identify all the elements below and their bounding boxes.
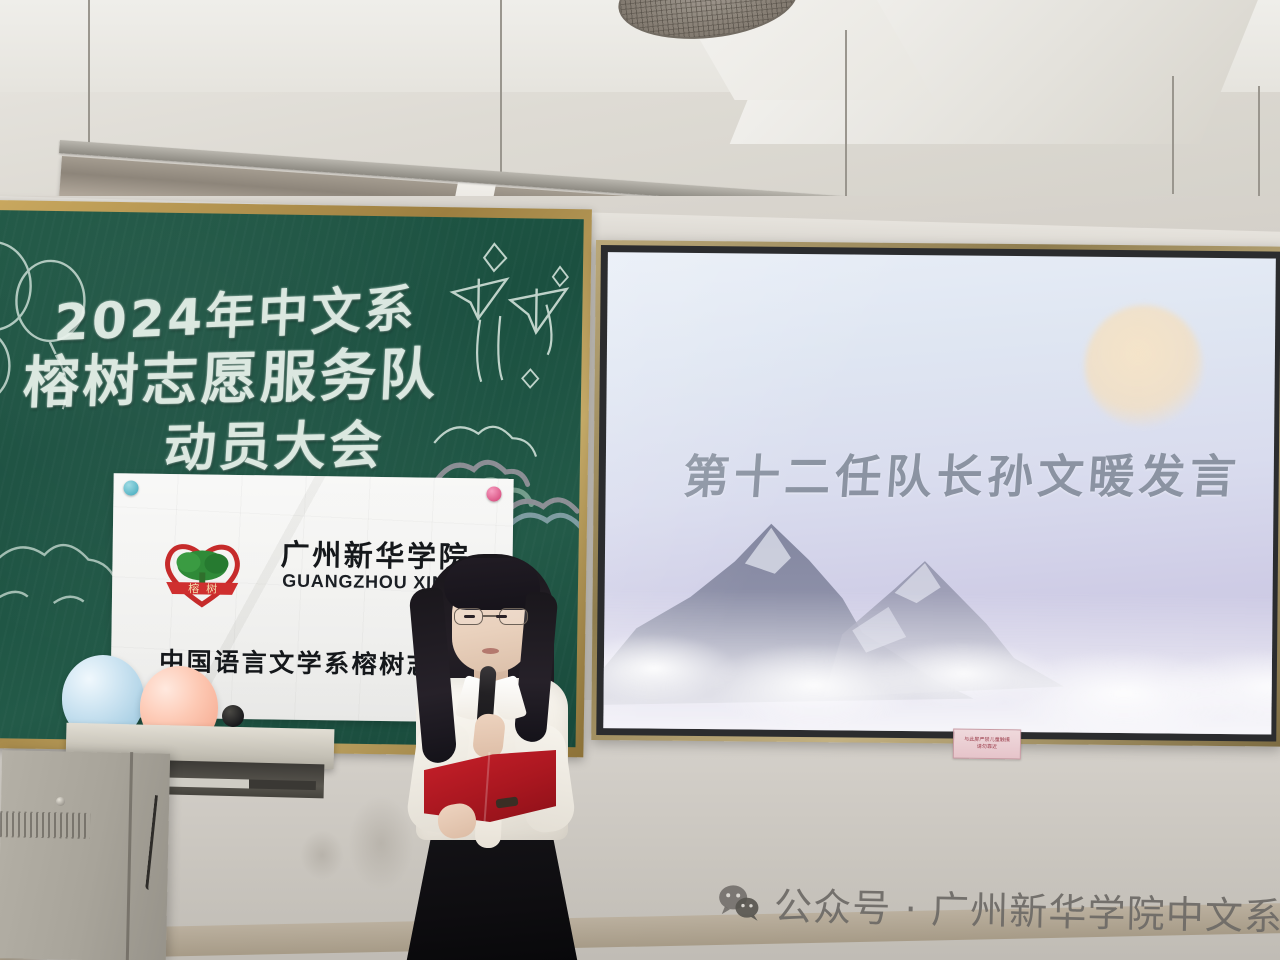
podium-lock-icon[interactable] [56,797,65,806]
speaker-eye-right [496,615,507,618]
screen-warning-sign: 与此屏严禁儿童触摸 请勿靠近 [953,729,1021,760]
watermark-text: 公众号 · 广州新华学院中文系 [773,875,1280,941]
chalk-paper-airplane-doodle [426,237,584,449]
fan-cage-icon [614,0,801,47]
speaker-eye-left [464,615,475,618]
wall-scuff-mark [300,830,344,880]
podium-cabinet[interactable] [0,750,170,960]
light-hanger-rod [845,30,847,215]
photo-scene: 2024年中文系 榕树志愿服务队 动员大会 榕 树 广州新华学院 GUANGZH… [0,0,1280,960]
slide-title: 第十二任队长孙文暖发言 [681,440,1243,506]
wechat-icon [718,884,761,921]
xinhua-tree-heart-logo-icon: 榕 树 [158,532,247,611]
podium-vent-grille [0,811,90,839]
banner-pin-left-icon [123,480,138,495]
blackboard-title-line-3: 动员大会 [162,403,387,481]
svg-text:树: 树 [206,582,217,596]
projection-screen-frame: 第十二任队长孙文暖发言 [591,240,1280,747]
speaker-mouth [482,648,499,654]
slide-sun-icon [1084,305,1203,428]
speaker-person [378,536,598,960]
projection-screen[interactable]: 第十二任队长孙文暖发言 [603,252,1276,734]
black-knob-object [222,705,244,727]
svg-text:榕: 榕 [188,581,199,595]
light-hanger-rod [500,0,502,185]
banner-pin-right-icon [486,486,501,501]
light-hanger-rod [1172,76,1174,194]
light-hanger-rod [88,0,90,150]
light-hanger-rod [1258,86,1260,196]
warning-sign-line-2: 请勿靠近 [977,744,998,752]
slide-cloud-layer [603,588,1276,735]
ceiling-fan [618,0,798,50]
